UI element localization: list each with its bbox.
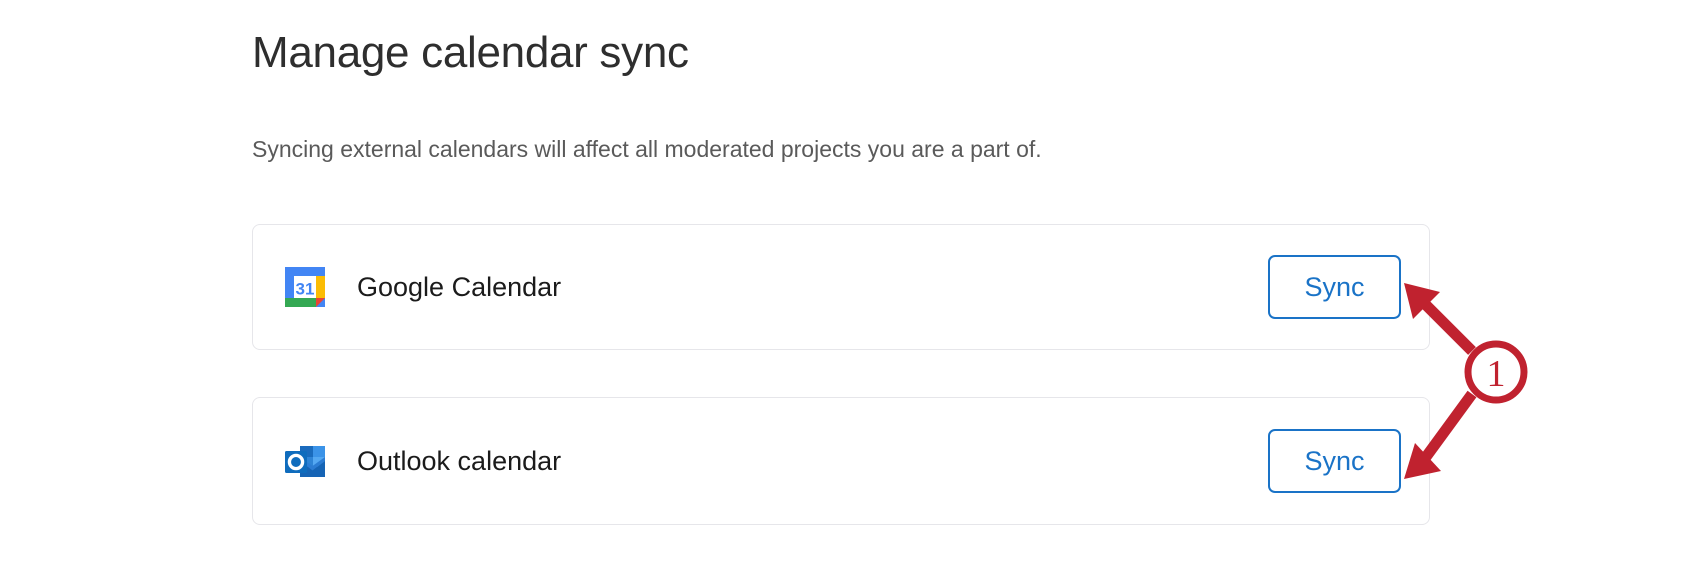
google-calendar-icon: 31 [281, 263, 329, 311]
manage-calendar-sync-page: Manage calendar sync Syncing external ca… [0, 0, 1700, 588]
provider-label-google-calendar: Google Calendar [357, 272, 561, 303]
annotation-arrow-shaft-lower [1423, 394, 1472, 461]
provider-card-outlook-calendar: Outlook calendar Sync [252, 397, 1430, 525]
page-title: Manage calendar sync [252, 27, 689, 80]
annotation-badge-label: 1 [1487, 353, 1506, 395]
provider-identity-google: 31 Google Calendar [281, 263, 561, 311]
outlook-calendar-icon [281, 437, 329, 485]
google-calendar-sync-button[interactable]: Sync [1268, 255, 1401, 319]
outlook-calendar-sync-button[interactable]: Sync [1268, 429, 1401, 493]
provider-card-google-calendar: 31 Google Calendar Sync [252, 224, 1430, 350]
annotation-badge-circle [1468, 344, 1524, 400]
google-calendar-icon-day: 31 [296, 280, 315, 299]
provider-identity-outlook: Outlook calendar [281, 437, 561, 485]
provider-label-outlook-calendar: Outlook calendar [357, 446, 561, 477]
page-subtitle: Syncing external calendars will affect a… [252, 135, 1042, 165]
